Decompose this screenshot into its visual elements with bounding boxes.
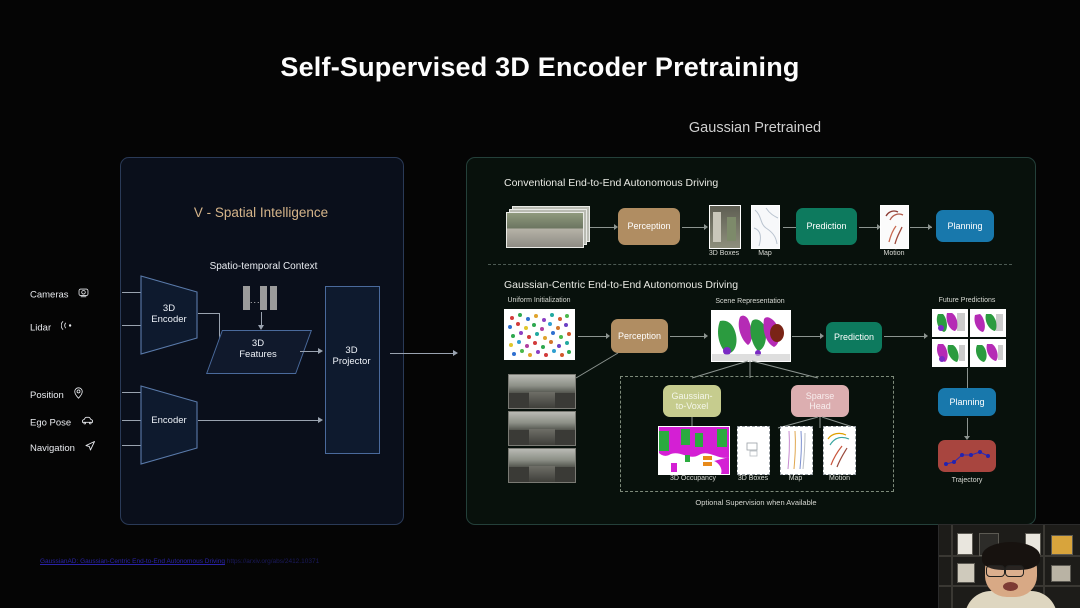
- arrowhead-left-to-right-panel: [453, 350, 458, 356]
- node-perception-conventional[interactable]: Perception: [618, 208, 680, 245]
- gaussian-to-voxel-line2: to-Voxel: [671, 401, 712, 411]
- arrow-cam-to-perception-conv: [590, 227, 616, 228]
- caption-3d-boxes-conv: 3D Boxes: [699, 250, 749, 257]
- navigation-arrow-icon: [84, 440, 96, 454]
- citation-link[interactable]: GaussianAD: Gaussian-Centric End-to-End …: [40, 558, 225, 565]
- arrowhead-encoder-to-projector: [318, 417, 323, 423]
- arrowhead-scene-to-prediction: [820, 333, 824, 339]
- encoder-elbow-h1: [198, 313, 220, 314]
- arrow-init-to-perception: [578, 336, 608, 337]
- projector-3d-label-line1: 3D: [325, 345, 378, 356]
- webcam-glasses-left: [986, 565, 1005, 577]
- gaussian-to-voxel-line1: Gaussian-: [671, 391, 712, 401]
- arrow-cameras-to-perception-gaussian: [574, 352, 620, 380]
- input-label-navigation: Navigation: [30, 443, 75, 454]
- future-prediction-tile-4: [970, 339, 1006, 367]
- node-sparse-head[interactable]: Sparse Head: [791, 385, 849, 417]
- encoder-label: Encoder: [140, 415, 198, 426]
- thumb-trajectory: [938, 440, 996, 472]
- webcam-person-mouth: [1003, 582, 1018, 591]
- sparse-head-line1: Sparse: [806, 391, 835, 401]
- encoder-3d-label-line1: 3D: [140, 303, 198, 314]
- thumb-scene-representation: [711, 310, 791, 362]
- thumb-camera-3: [508, 448, 576, 483]
- node-planning-gaussian[interactable]: Planning: [938, 388, 996, 416]
- projector-3d-label: 3D Projector: [325, 345, 378, 367]
- arrow-features-to-projector: [300, 351, 320, 352]
- conventional-title: Conventional End-to-End Autonomous Drivi…: [504, 177, 718, 189]
- features-3d-label-line1: 3D: [214, 338, 302, 349]
- thumb-3d-boxes-conv: [709, 205, 741, 249]
- caption-uniform-init: Uniform Initialization: [496, 297, 582, 304]
- spatio-temporal-label: Spatio-temporal Context: [176, 261, 351, 272]
- arrow-perception-to-scene: [670, 336, 706, 337]
- webcam-overlay[interactable]: [938, 524, 1080, 608]
- token-bar-2: [260, 286, 267, 310]
- thumb-motion-conv: [880, 205, 909, 249]
- token-bar-3: [270, 286, 277, 310]
- thumb-map-gaussian: [780, 426, 813, 475]
- encoder-3d-label-line2: Encoder: [140, 314, 198, 325]
- caption-scene-representation: Scene Representation: [700, 298, 800, 305]
- node-prediction-conventional[interactable]: Prediction: [796, 208, 857, 245]
- camera-icon: [78, 287, 89, 300]
- caption-map-conv: Map: [745, 250, 785, 257]
- token-bar-1: [243, 286, 250, 310]
- citation-url[interactable]: https://arxiv.org/abs/2412.10371: [227, 558, 319, 565]
- thumb-uniform-initialization: [504, 309, 575, 360]
- lidar-wave-icon: [61, 320, 75, 333]
- encoder-3d-label: 3D Encoder: [140, 303, 198, 325]
- future-prediction-tile-3: [932, 339, 968, 367]
- arrowhead-motion-to-planning-conv: [928, 224, 932, 230]
- input-row-ego-pose: Ego Pose: [30, 415, 115, 427]
- arrow-left-to-right-panel: [390, 353, 455, 354]
- car-icon: [81, 415, 94, 428]
- webcam-glasses-right: [1005, 565, 1024, 577]
- gaussian-pretrained-label: Gaussian Pretrained: [600, 120, 910, 136]
- projector-3d-block: [325, 286, 380, 454]
- camera-image-stack: [506, 206, 592, 247]
- thumb-motion-gaussian: [823, 426, 856, 475]
- caption-3d-boxes-gaussian: 3D Boxes: [728, 475, 778, 482]
- input-label-ego-pose: Ego Pose: [30, 418, 71, 429]
- arrowhead-perception-to-boxes-conv: [704, 224, 708, 230]
- arrowhead-perception-to-scene: [704, 333, 708, 339]
- citation[interactable]: GaussianAD: Gaussian-Centric End-to-End …: [40, 558, 319, 565]
- features-3d-label-line2: Features: [214, 349, 302, 360]
- thumb-map-conv: [751, 205, 780, 249]
- arrow-encoder-to-projector: [198, 420, 320, 421]
- thumb-camera-2: [508, 411, 576, 446]
- caption-motion-conv: Motion: [874, 250, 914, 257]
- caption-future-predictions: Future Predictions: [927, 297, 1007, 304]
- input-label-position: Position: [30, 390, 64, 401]
- arrowhead-init-to-perception: [606, 333, 610, 339]
- future-prediction-tile-1: [932, 309, 968, 337]
- thumb-3d-boxes-gaussian: [737, 426, 770, 475]
- thumb-camera-1: [508, 374, 576, 409]
- input-row-cameras: Cameras: [30, 287, 115, 299]
- input-row-position: Position: [30, 387, 115, 399]
- slide-root: Self-Supervised 3D Encoder Pretraining G…: [0, 0, 1080, 608]
- input-label-lidar: Lidar: [30, 323, 51, 334]
- optional-supervision-footer: Optional Supervision when Available: [620, 498, 892, 507]
- arrowhead-features-to-projector: [318, 348, 323, 354]
- input-row-lidar: Lidar: [30, 320, 115, 332]
- node-prediction-gaussian[interactable]: Prediction: [826, 322, 882, 353]
- left-panel-title: V - Spatial Intelligence: [0, 205, 522, 220]
- arrow-prediction-to-future: [884, 336, 926, 337]
- line-future-to-planning: [967, 368, 968, 390]
- arrow-perception-to-boxes-conv: [682, 227, 706, 228]
- features-3d-label: 3D Features: [214, 338, 302, 360]
- sparse-head-line2: Head: [806, 401, 835, 411]
- future-predictions-grid: [932, 309, 1004, 365]
- token-to-features-line: [261, 312, 262, 326]
- input-label-cameras: Cameras: [30, 290, 69, 301]
- caption-trajectory: Trajectory: [927, 477, 1007, 484]
- node-planning-conventional[interactable]: Planning: [936, 210, 994, 242]
- caption-3d-occupancy: 3D Occupancy: [653, 475, 733, 482]
- future-prediction-tile-2: [970, 309, 1006, 337]
- node-gaussian-to-voxel[interactable]: Gaussian- to-Voxel: [663, 385, 721, 417]
- node-perception-gaussian[interactable]: Perception: [611, 319, 668, 353]
- page-title: Self-Supervised 3D Encoder Pretraining: [0, 52, 1080, 83]
- map-pin-icon: [73, 387, 84, 401]
- projector-3d-label-line2: Projector: [325, 356, 378, 367]
- section-divider: [488, 264, 1012, 265]
- gaussian-title: Gaussian-Centric End-to-End Autonomous D…: [504, 279, 738, 291]
- arrowhead-prediction-to-future: [924, 333, 928, 339]
- caption-motion-gaussian: Motion: [817, 475, 862, 482]
- arrow-scene-to-prediction: [792, 336, 822, 337]
- token-ellipsis: ...: [250, 295, 261, 305]
- thumb-3d-occupancy: [658, 426, 730, 475]
- caption-map-gaussian: Map: [773, 475, 818, 482]
- line-planning-to-trajectory: [967, 418, 968, 438]
- input-row-navigation: Navigation: [30, 440, 115, 452]
